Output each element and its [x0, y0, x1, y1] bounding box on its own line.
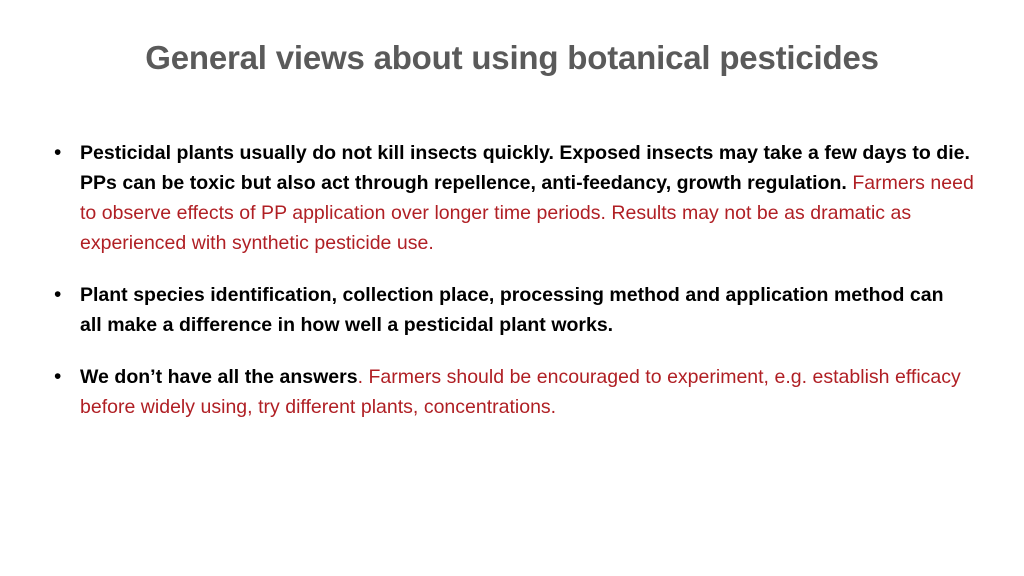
- list-item-text: Pesticidal plants usually do not kill in…: [80, 138, 992, 258]
- text-run-black: Plant species identification, collection…: [80, 284, 944, 336]
- list-item: • Pesticidal plants usually do not kill …: [46, 138, 986, 258]
- text-run-black: Pesticidal plants usually do not kill in…: [80, 142, 970, 194]
- bullet-icon: •: [54, 362, 61, 392]
- text-run-black: We don’t have all the answers: [80, 366, 358, 388]
- bullet-icon: •: [54, 280, 61, 310]
- list-item: • We don’t have all the answers. Farmers…: [46, 362, 986, 422]
- list-item-text: We don’t have all the answers. Farmers s…: [80, 362, 980, 422]
- page-title: General views about using botanical pest…: [0, 38, 1024, 78]
- list-item-text: Plant species identification, collection…: [80, 280, 970, 340]
- slide-canvas: General views about using botanical pest…: [0, 0, 1024, 576]
- slide-body: • Pesticidal plants usually do not kill …: [46, 138, 986, 422]
- list-item: • Plant species identification, collecti…: [46, 280, 986, 340]
- bullet-icon: •: [54, 138, 61, 168]
